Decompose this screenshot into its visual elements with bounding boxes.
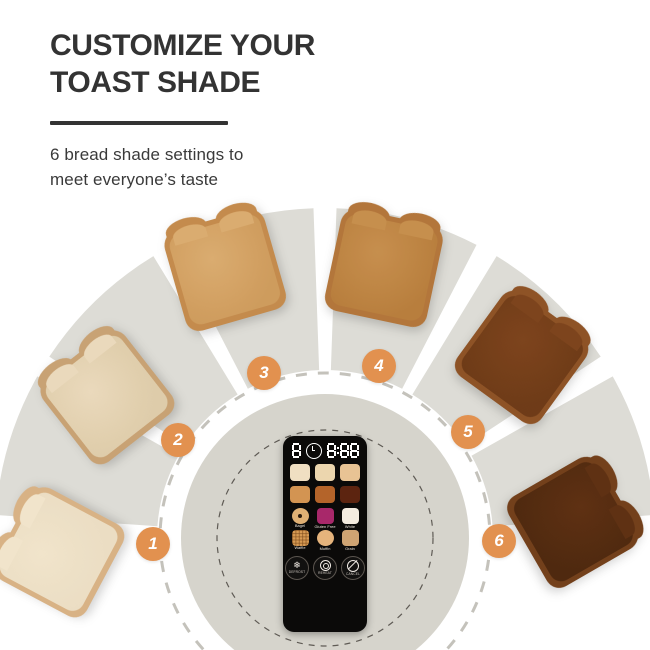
function-button-row[interactable]: ❄DEFROSTREHEATCANCEL (285, 556, 365, 580)
toaster-control-panel[interactable]: BagelGluten FreeWhite WaffleMuffinGrain … (283, 436, 367, 632)
title-line-2: TOAST SHADE (50, 65, 470, 102)
shade-badge-label: 5 (463, 423, 472, 440)
shade-swatch-2[interactable] (315, 464, 335, 481)
page-title: CUSTOMIZE YOUR TOAST SHADE (50, 28, 470, 101)
shade-swatch-5[interactable] (315, 486, 335, 503)
bread-slice-4 (322, 206, 445, 329)
reheat-icon (320, 560, 331, 571)
page-subtitle: 6 bread shade settings to meet everyone’… (50, 143, 470, 192)
shade-badge-1[interactable]: 1 (136, 527, 170, 561)
cancel-icon (347, 560, 359, 572)
shade-digit (292, 443, 301, 458)
function-button-cancel[interactable]: CANCEL (341, 556, 365, 580)
shade-badge-5[interactable]: 5 (451, 415, 485, 449)
bread-type-label: Gluten Free (314, 525, 335, 529)
bread-type-label: Muffin (320, 547, 331, 551)
title-divider (50, 121, 228, 125)
clock-icon (306, 443, 322, 459)
bread-type-label: Waffle (294, 546, 305, 550)
bread-type-row-2[interactable]: WaffleMuffinGrain (289, 530, 361, 551)
subtitle-line-1: 6 bread shade settings to (50, 145, 243, 164)
shade-badge-4[interactable]: 4 (362, 349, 396, 383)
bagel-icon (292, 508, 309, 524)
shade-badge-label: 4 (374, 357, 383, 374)
snowflake-icon: ❄ (293, 561, 301, 570)
bread-type-waffle[interactable]: Waffle (289, 530, 311, 551)
shade-badge-label: 3 (259, 364, 268, 381)
shade-swatch-1[interactable] (290, 464, 310, 481)
title-line-1: CUSTOMIZE YOUR (50, 29, 315, 62)
function-button-label: REHEAT (318, 572, 332, 575)
bread-type-gluten-free[interactable]: Gluten Free (314, 508, 336, 529)
bread-type-bagel[interactable]: Bagel (289, 508, 311, 529)
waffle-icon (292, 530, 309, 546)
function-button-label: DEFROST (289, 571, 305, 574)
function-button-defrost[interactable]: ❄DEFROST (285, 556, 309, 580)
lcd-readout (292, 442, 359, 459)
shade-badge-2[interactable]: 2 (161, 423, 195, 457)
shade-swatch-4[interactable] (290, 486, 310, 503)
white-bread-icon (342, 508, 359, 524)
gluten-free-icon (317, 508, 334, 524)
muffin-icon (317, 530, 334, 546)
bread-type-grain[interactable]: Grain (339, 530, 361, 551)
shade-badge-6[interactable]: 6 (482, 524, 516, 558)
bread-type-muffin[interactable]: Muffin (314, 530, 336, 551)
bread-type-label: Bagel (295, 524, 305, 528)
bread-type-label: Grain (345, 547, 355, 551)
shade-badge-label: 2 (173, 431, 182, 448)
grain-icon (342, 530, 359, 546)
bread-type-row-1[interactable]: BagelGluten FreeWhite (289, 508, 361, 529)
shade-swatch-grid[interactable] (290, 464, 360, 503)
shade-swatch-3[interactable] (340, 464, 360, 481)
shade-swatch-6[interactable] (340, 486, 360, 503)
bread-type-white[interactable]: White (339, 508, 361, 529)
function-button-label: CANCEL (346, 573, 360, 576)
header-block: CUSTOMIZE YOUR TOAST SHADE 6 bread shade… (50, 28, 470, 192)
bread-type-label: White (345, 525, 355, 529)
shade-badge-label: 1 (148, 535, 157, 552)
subtitle-line-2: meet everyone’s taste (50, 168, 470, 193)
function-button-reheat[interactable]: REHEAT (313, 556, 337, 580)
shade-badge-label: 6 (494, 532, 503, 549)
timer-value (327, 443, 359, 458)
shade-badge-3[interactable]: 3 (247, 356, 281, 390)
slice-crumb (328, 212, 439, 323)
